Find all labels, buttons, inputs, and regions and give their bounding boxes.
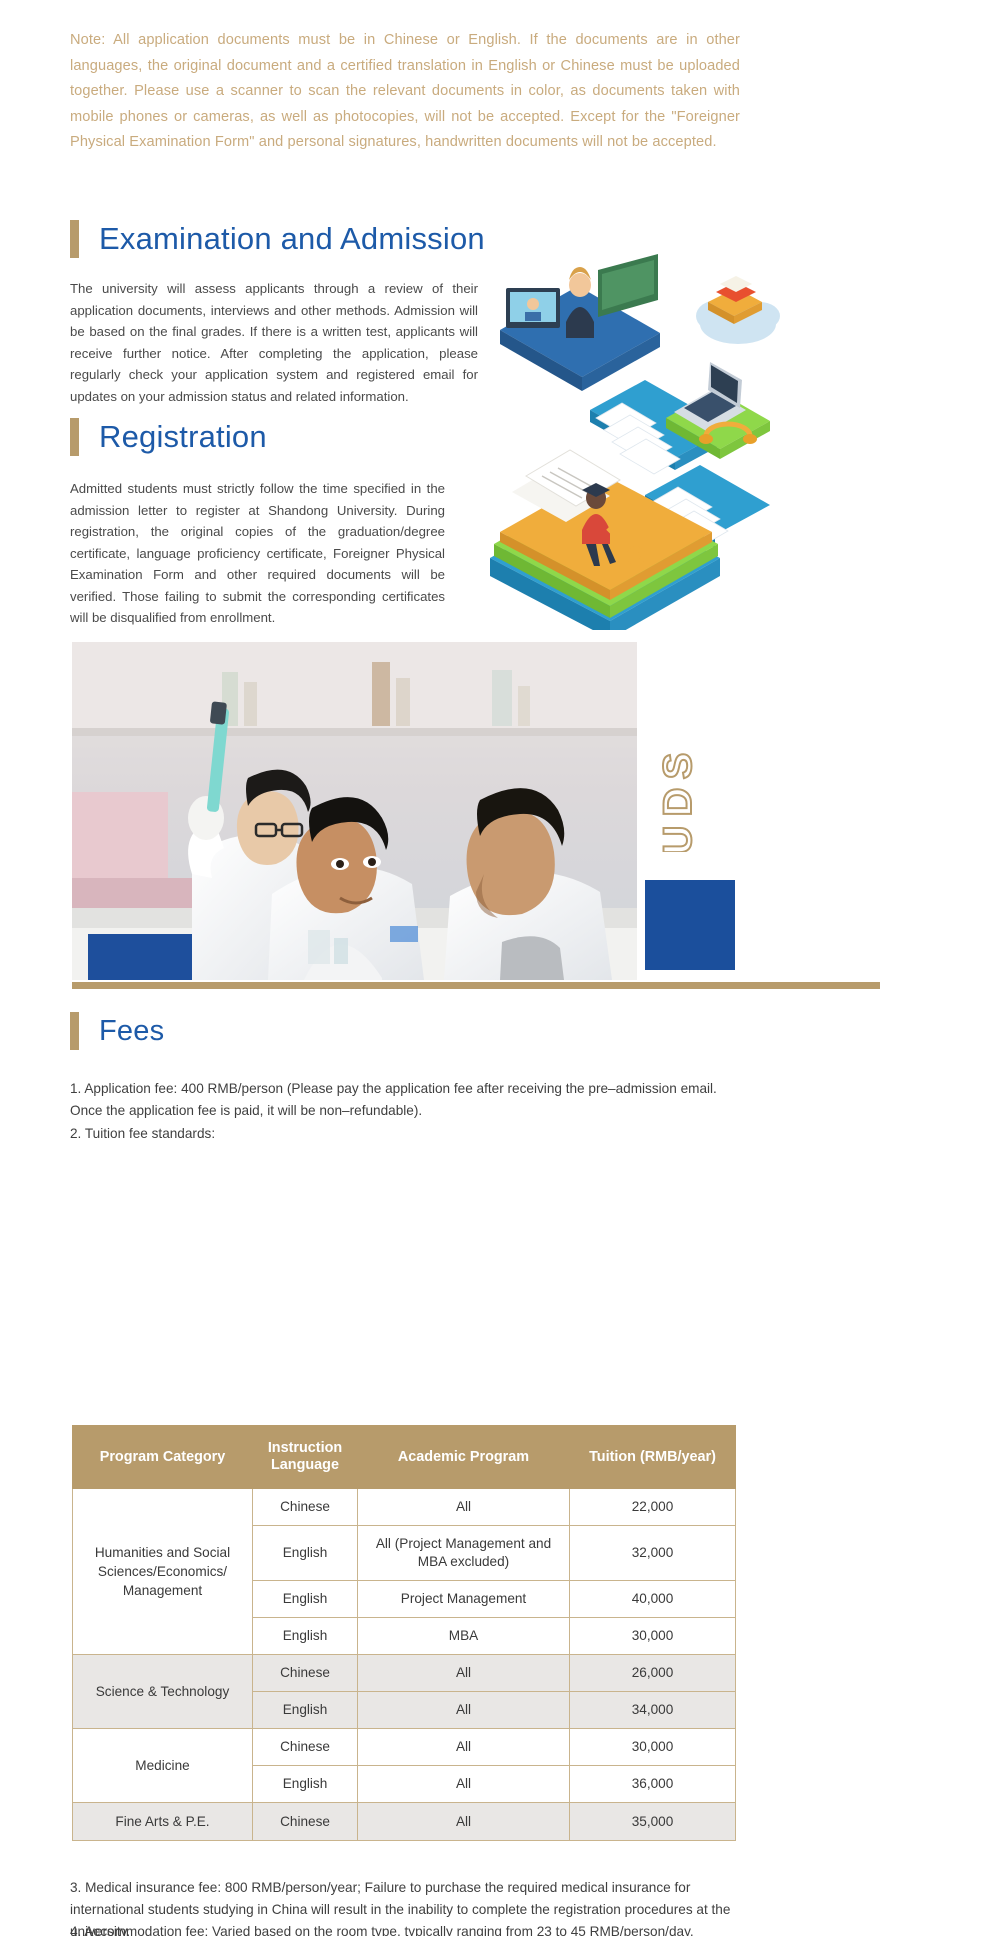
brochure-page: Note: All application documents must be …: [0, 0, 1000, 1936]
section-heading-examination: Examination and Admission: [70, 220, 485, 258]
col-header-tuition: Tuition (RMB/year): [570, 1426, 736, 1489]
cell-academic-program: All: [358, 1729, 570, 1766]
section-title-registration: Registration: [99, 419, 267, 455]
cell-instruction-language: Chinese: [253, 1655, 358, 1692]
fee-item-accommodation: 4. Accommodation fee: Varied based on th…: [70, 1921, 755, 1936]
table-header-row: Program Category Instruction Language Ac…: [73, 1426, 736, 1489]
svg-text:D: D: [656, 788, 700, 817]
table-row: Science & TechnologyChineseAll26,000: [73, 1655, 736, 1692]
cell-academic-program: All: [358, 1692, 570, 1729]
cell-tuition: 40,000: [570, 1581, 736, 1618]
brand-blue-square: [645, 880, 735, 970]
fee-item-application: 1. Application fee: 400 RMB/person (Plea…: [70, 1078, 750, 1122]
tuition-fee-table: Program Category Instruction Language Ac…: [72, 1425, 736, 1841]
laboratory-photo: [72, 642, 637, 980]
table-row: Fine Arts & P.E.ChineseAll35,000: [73, 1803, 736, 1841]
tuition-fee-table-wrapper: Program Category Instruction Language Ac…: [72, 1425, 735, 1841]
col-header-academic-program: Academic Program: [358, 1426, 570, 1489]
application-note: Note: All application documents must be …: [70, 28, 740, 156]
cell-program-category: Humanities and Social Sciences/Economics…: [73, 1489, 253, 1655]
cell-academic-program: All (Project Management and MBA excluded…: [358, 1526, 570, 1581]
svg-text:S: S: [656, 753, 700, 780]
section-title-examination: Examination and Admission: [99, 221, 485, 257]
cell-instruction-language: English: [253, 1692, 358, 1729]
cell-instruction-language: English: [253, 1526, 358, 1581]
cell-academic-program: MBA: [358, 1618, 570, 1655]
table-body: Humanities and Social Sciences/Economics…: [73, 1489, 736, 1841]
photo-gold-rule: [72, 982, 880, 989]
cell-tuition: 26,000: [570, 1655, 736, 1692]
sdu-logo-outline: S D U: [645, 722, 737, 852]
section-title-fees: Fees: [99, 1015, 164, 1048]
section-heading-registration: Registration: [70, 418, 267, 456]
cell-academic-program: All: [358, 1655, 570, 1692]
section-heading-fees: Fees: [70, 1012, 164, 1050]
cell-instruction-language: English: [253, 1766, 358, 1803]
table-row: MedicineChineseAll30,000: [73, 1729, 736, 1766]
cell-instruction-language: English: [253, 1581, 358, 1618]
svg-text:U: U: [656, 826, 700, 852]
cell-tuition: 36,000: [570, 1766, 736, 1803]
heading-accent-bar: [70, 220, 79, 258]
cell-tuition: 35,000: [570, 1803, 736, 1841]
cell-program-category: Fine Arts & P.E.: [73, 1803, 253, 1841]
cell-tuition: 34,000: [570, 1692, 736, 1729]
table-row: Humanities and Social Sciences/Economics…: [73, 1489, 736, 1526]
cell-instruction-language: Chinese: [253, 1489, 358, 1526]
education-illustration: [470, 240, 800, 630]
cell-tuition: 30,000: [570, 1729, 736, 1766]
col-header-instruction-language: Instruction Language: [253, 1426, 358, 1489]
col-header-program-category: Program Category: [73, 1426, 253, 1489]
fee-item-tuition-label: 2. Tuition fee standards:: [70, 1123, 750, 1145]
cell-academic-program: All: [358, 1803, 570, 1841]
cell-academic-program: Project Management: [358, 1581, 570, 1618]
cell-academic-program: All: [358, 1489, 570, 1526]
cell-instruction-language: English: [253, 1618, 358, 1655]
cell-tuition: 32,000: [570, 1526, 736, 1581]
heading-accent-bar: [70, 1012, 79, 1050]
cell-program-category: Science & Technology: [73, 1655, 253, 1729]
cell-tuition: 22,000: [570, 1489, 736, 1526]
cell-instruction-language: Chinese: [253, 1803, 358, 1841]
cell-program-category: Medicine: [73, 1729, 253, 1803]
cell-instruction-language: Chinese: [253, 1729, 358, 1766]
section-body-examination: The university will assess applicants th…: [70, 278, 478, 407]
cell-academic-program: All: [358, 1766, 570, 1803]
cell-tuition: 30,000: [570, 1618, 736, 1655]
application-note-text: Note: All application documents must be …: [70, 28, 740, 156]
heading-accent-bar: [70, 418, 79, 456]
section-body-registration: Admitted students must strictly follow t…: [70, 478, 445, 629]
